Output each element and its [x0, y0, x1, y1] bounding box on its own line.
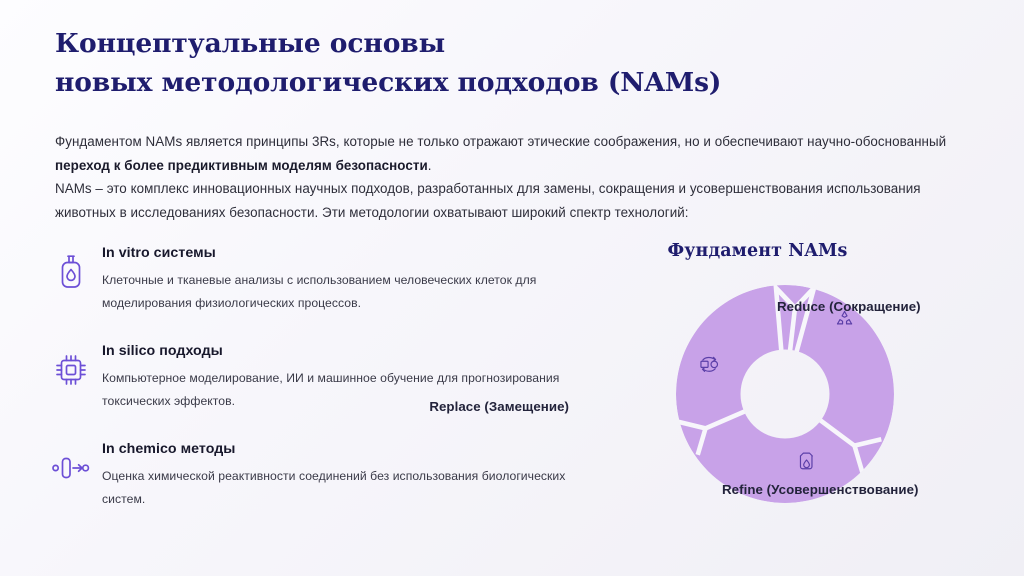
intro-p1-text-before: Фундаментом NAMs является принципы 3Rs, …	[55, 134, 946, 149]
page-title-line-2: новых методологических подходов (NAMs)	[55, 63, 935, 102]
feature-description: Клеточные и тканевые анализы с использов…	[102, 269, 610, 315]
intro-text-block: Фундаментом NAMs является принципы 3Rs, …	[55, 130, 975, 224]
feature-item-in-vitro: In vitro системы Клеточные и тканевые ан…	[50, 243, 610, 315]
feature-title: In vitro системы	[102, 243, 610, 264]
donut-label-replace: Replace (Замещение)	[429, 399, 569, 414]
cpu-chip-icon	[52, 351, 90, 389]
donut-label-refine: Refine (Усовершенствование)	[722, 482, 919, 497]
intro-paragraph-2: NAMs – это комплекс инновационных научны…	[55, 177, 975, 224]
intro-p1-emphasis: переход к более предиктивным моделям без…	[55, 158, 428, 173]
nams-foundation-diagram: Фундамент NAMs	[540, 236, 1020, 556]
feature-description: Оценка химической реактивности соединени…	[102, 465, 610, 511]
intro-p1-text-after: .	[428, 158, 432, 173]
page-title-line-1: Концептуальные основы	[55, 24, 935, 63]
three-rs-donut-chart	[540, 236, 1020, 556]
page-title: Концептуальные основы новых методологиче…	[55, 24, 935, 102]
feature-title: In chemico методы	[102, 439, 610, 460]
chemical-reaction-icon	[52, 449, 90, 487]
donut-label-reduce: Reduce (Сокращение)	[777, 299, 921, 314]
dropper-bottle-icon	[52, 253, 90, 291]
feature-title: In silico подходы	[102, 341, 610, 362]
feature-item-in-chemico: In chemico методы Оценка химической реак…	[50, 439, 610, 511]
feature-list: In vitro системы Клеточные и тканевые ан…	[50, 243, 610, 537]
intro-paragraph-1: Фундаментом NAMs является принципы 3Rs, …	[55, 130, 975, 177]
